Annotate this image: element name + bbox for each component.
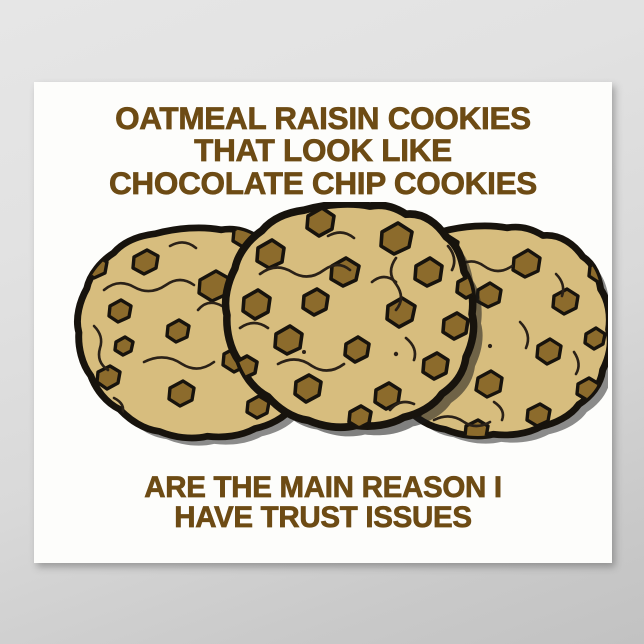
poster-preview-canvas: OATMEAL RAISIN COOKIES THAT LOOK LIKE CH… — [0, 0, 644, 644]
headline-text-block: OATMEAL RAISIN COOKIES THAT LOOK LIKE CH… — [34, 102, 612, 199]
footline-text-block: ARE THE MAIN REASON I HAVE TRUST ISSUES — [34, 473, 612, 534]
poster-sheet: OATMEAL RAISIN COOKIES THAT LOOK LIKE CH… — [34, 82, 612, 563]
cookies-illustration — [52, 202, 608, 470]
footline-line-1: ARE THE MAIN REASON I — [34, 473, 612, 503]
headline-line-2: THAT LOOK LIKE — [34, 134, 612, 166]
headline-line-3: CHOCOLATE CHIP COOKIES — [34, 167, 612, 199]
footline-line-2: HAVE TRUST ISSUES — [34, 503, 612, 533]
headline-line-1: OATMEAL RAISIN COOKIES — [34, 102, 612, 134]
